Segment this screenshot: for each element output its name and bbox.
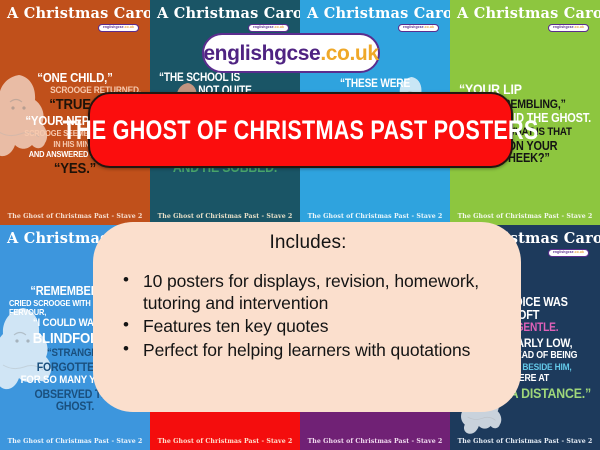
logo-tld: .co.uk: [320, 42, 378, 65]
poster-badge-name: englishgcse: [403, 25, 424, 29]
includes-list-item: Features ten key quotes: [115, 315, 501, 337]
poster-logo-badge: englishgcse.co.uk: [248, 24, 289, 31]
poster-title: A Christmas Carol: [307, 6, 443, 21]
main-title-banner: The Ghost of Christmas Past Posters: [88, 92, 513, 168]
includes-list-item: 10 posters for displays, revision, homew…: [115, 270, 501, 314]
poster-quote-line: “These were: [317, 79, 433, 91]
poster-badge-tld: .co.uk: [574, 25, 584, 29]
poster-logo-badge: englishgcse.co.uk: [98, 24, 139, 31]
poster-footer: The Ghost of Christmas Past - Stave 2: [307, 438, 443, 450]
includes-list: 10 posters for displays, revision, homew…: [115, 270, 501, 362]
logo-text: englishgcse.co.uk: [203, 43, 378, 64]
poster-footer: The Ghost of Christmas Past - Stave 2: [457, 438, 593, 450]
includes-list-item: Perfect for helping learners with quotat…: [115, 339, 501, 361]
poster-logo-badge: englishgcse.co.uk: [398, 24, 439, 31]
logo-name: englishgcse: [203, 42, 320, 65]
poster-title: A Christmas Carol: [157, 6, 293, 21]
poster-badge-name: englishgcse: [553, 250, 574, 254]
poster-badge-tld: .co.uk: [124, 25, 134, 29]
poster-logo-badge: englishgcse.co.uk: [548, 24, 589, 31]
poster-footer: The Ghost of Christmas Past - Stave 2: [7, 438, 143, 450]
page-title: The Ghost of Christmas Past Posters: [62, 117, 538, 144]
poster-badge-tld: .co.uk: [574, 250, 584, 254]
englishgcse-logo-badge: englishgcse.co.uk: [202, 33, 380, 73]
poster-logo-badge: englishgcse.co.uk: [548, 249, 589, 256]
poster-badge-name: englishgcse: [103, 25, 124, 29]
poster-title: A Christmas Carol: [457, 6, 593, 21]
poster-badge-tld: .co.uk: [424, 25, 434, 29]
poster-quote-line: “The School is: [159, 73, 275, 85]
includes-heading: Includes:: [115, 232, 501, 254]
includes-card: Includes: 10 posters for displays, revis…: [93, 222, 521, 412]
poster-badge-tld: .co.uk: [274, 25, 284, 29]
poster-badge-name: englishgcse: [553, 25, 574, 29]
poster-title: A Christmas Carol: [7, 6, 143, 21]
poster-footer: The Ghost of Christmas Past - Stave 2: [157, 438, 293, 450]
poster-badge-name: englishgcse: [253, 25, 274, 29]
poster-quote-line: “One Child,”: [17, 71, 133, 84]
